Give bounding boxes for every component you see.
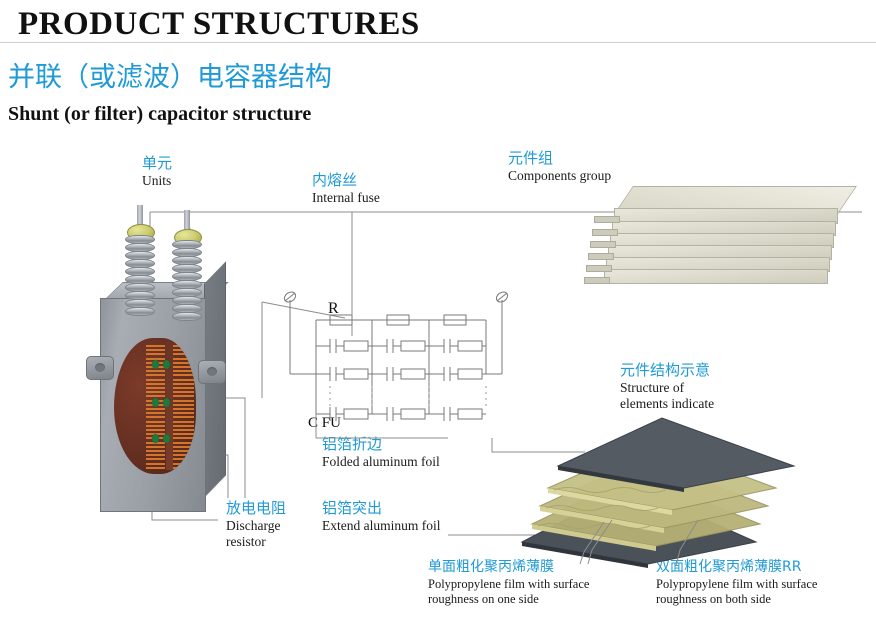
label-elements-structure: 元件结构示意 Structure of elements indicate: [620, 362, 714, 411]
page-subtitle-en: Shunt (or filter) capacitor structure: [8, 103, 311, 126]
element-fin: [146, 353, 165, 355]
component-slab: [604, 269, 828, 284]
element-fin: [146, 391, 165, 393]
discharge-resistor-dot: [152, 434, 159, 443]
element-fin: [146, 421, 165, 423]
element-fin: [146, 383, 165, 385]
bushing-rib: [172, 312, 202, 321]
element-fin: [146, 425, 165, 427]
label-elements-structure-en2: elements indicate: [620, 396, 714, 411]
element-fin: [173, 454, 194, 456]
element-fin: [173, 362, 194, 364]
label-elements-structure-en1: Structure of: [620, 380, 714, 395]
element-fin: [173, 379, 194, 381]
element-fin: [173, 425, 194, 427]
discharge-resistor-dot: [152, 398, 159, 407]
element-fin: [173, 391, 194, 393]
element-fin: [173, 433, 194, 435]
label-folded-foil-cn: 铝箔折边: [322, 436, 440, 453]
element-fin: [173, 412, 194, 414]
element-fin: [173, 408, 194, 410]
element-fin: [173, 437, 194, 439]
element-fin: [146, 408, 165, 410]
element-fin: [146, 454, 165, 456]
label-units-en: Units: [142, 173, 172, 188]
element-fin: [146, 379, 165, 381]
label-components-group: 元件组 Components group: [508, 150, 611, 183]
label-film-both-side-en2: roughness on both side: [656, 592, 817, 606]
label-film-one-side-en1: Polypropylene film with surface: [428, 577, 589, 591]
label-discharge-resistor: 放电电阻 Discharge resistor: [226, 500, 286, 549]
label-discharge-resistor-en2: resistor: [226, 534, 286, 549]
element-fin: [146, 387, 165, 389]
discharge-resistor-dot: [163, 398, 170, 407]
element-fin: [173, 374, 194, 376]
circuit-schematic: [272, 286, 540, 434]
element-fin: [146, 416, 165, 418]
element-fin: [173, 458, 194, 460]
element-fin: [173, 383, 194, 385]
bushing-ribs-right: [172, 241, 202, 321]
label-internal-fuse: 内熔丝 Internal fuse: [312, 172, 380, 205]
element-fin: [173, 387, 194, 389]
label-folded-foil-en: Folded aluminum foil: [322, 454, 440, 469]
label-discharge-resistor-en1: Discharge: [226, 518, 286, 533]
component-tab: [588, 253, 614, 260]
label-film-both-side-en1: Polypropylene film with surface: [656, 577, 817, 591]
element-fin: [173, 463, 194, 465]
mounting-lug-left: [86, 356, 114, 380]
diagram-canvas: PRODUCT STRUCTURES 并联（或滤波）电容器结构 Shunt (o…: [0, 0, 876, 628]
label-internal-fuse-en: Internal fuse: [312, 190, 380, 205]
element-fin: [173, 421, 194, 423]
element-fin: [146, 429, 165, 431]
element-fin: [173, 429, 194, 431]
label-elements-structure-cn: 元件结构示意: [620, 362, 714, 379]
label-extend-foil-cn: 铝箔突出: [322, 500, 440, 517]
discharge-resistor-dot: [163, 360, 170, 369]
element-fin: [173, 400, 194, 402]
discharge-resistor-dot: [163, 434, 170, 443]
element-fin: [173, 358, 194, 360]
label-folded-foil: 铝箔折边 Folded aluminum foil: [322, 436, 440, 469]
element-fin: [173, 446, 194, 448]
element-fin: [173, 366, 194, 368]
element-fin: [173, 353, 194, 355]
label-components-group-en: Components group: [508, 168, 611, 183]
page-subtitle-cn: 并联（或滤波）电容器结构: [8, 55, 332, 94]
element-fin: [146, 412, 165, 414]
label-extend-foil-en: Extend aluminum foil: [322, 518, 440, 533]
component-tab: [594, 216, 620, 223]
element-fin: [146, 374, 165, 376]
film-stack-illustration: [508, 424, 876, 574]
label-film-one-side-en2: roughness on one side: [428, 592, 589, 606]
capacitor-unit-illustration: [92, 282, 224, 514]
element-fin: [146, 458, 165, 460]
element-fin: [173, 467, 194, 469]
element-fin: [173, 345, 194, 347]
discharge-resistor-dot: [152, 360, 159, 369]
label-units: 单元 Units: [142, 155, 172, 188]
element-fin: [173, 450, 194, 452]
element-fin: [173, 370, 194, 372]
label-internal-fuse-cn: 内熔丝: [312, 172, 380, 189]
bushing-rib: [125, 307, 155, 316]
component-tab: [590, 241, 616, 248]
page-title: PRODUCT STRUCTURES: [18, 6, 420, 43]
cutaway-interior: [114, 338, 196, 474]
header-divider: [0, 42, 876, 43]
label-units-cn: 单元: [142, 155, 172, 172]
element-fin: [173, 404, 194, 406]
element-fin: [146, 467, 165, 469]
label-discharge-resistor-cn: 放电电阻: [226, 500, 286, 517]
element-fin: [146, 450, 165, 452]
element-fin: [146, 463, 165, 465]
element-fin: [146, 446, 165, 448]
element-fin: [173, 416, 194, 418]
component-tab: [592, 229, 618, 236]
element-fin: [146, 349, 165, 351]
mounting-lug-right: [198, 360, 226, 384]
component-tab: [586, 265, 612, 272]
components-group-illustration: [592, 186, 864, 298]
label-extend-foil: 铝箔突出 Extend aluminum foil: [322, 500, 440, 533]
element-fin: [146, 345, 165, 347]
element-fin: [173, 395, 194, 397]
bushing-ribs-left: [125, 236, 155, 316]
element-stack: [146, 342, 194, 470]
label-components-group-cn: 元件组: [508, 150, 611, 167]
element-fin: [173, 349, 194, 351]
component-tab: [584, 277, 610, 284]
element-fin: [173, 442, 194, 444]
element-fin: [146, 370, 165, 372]
